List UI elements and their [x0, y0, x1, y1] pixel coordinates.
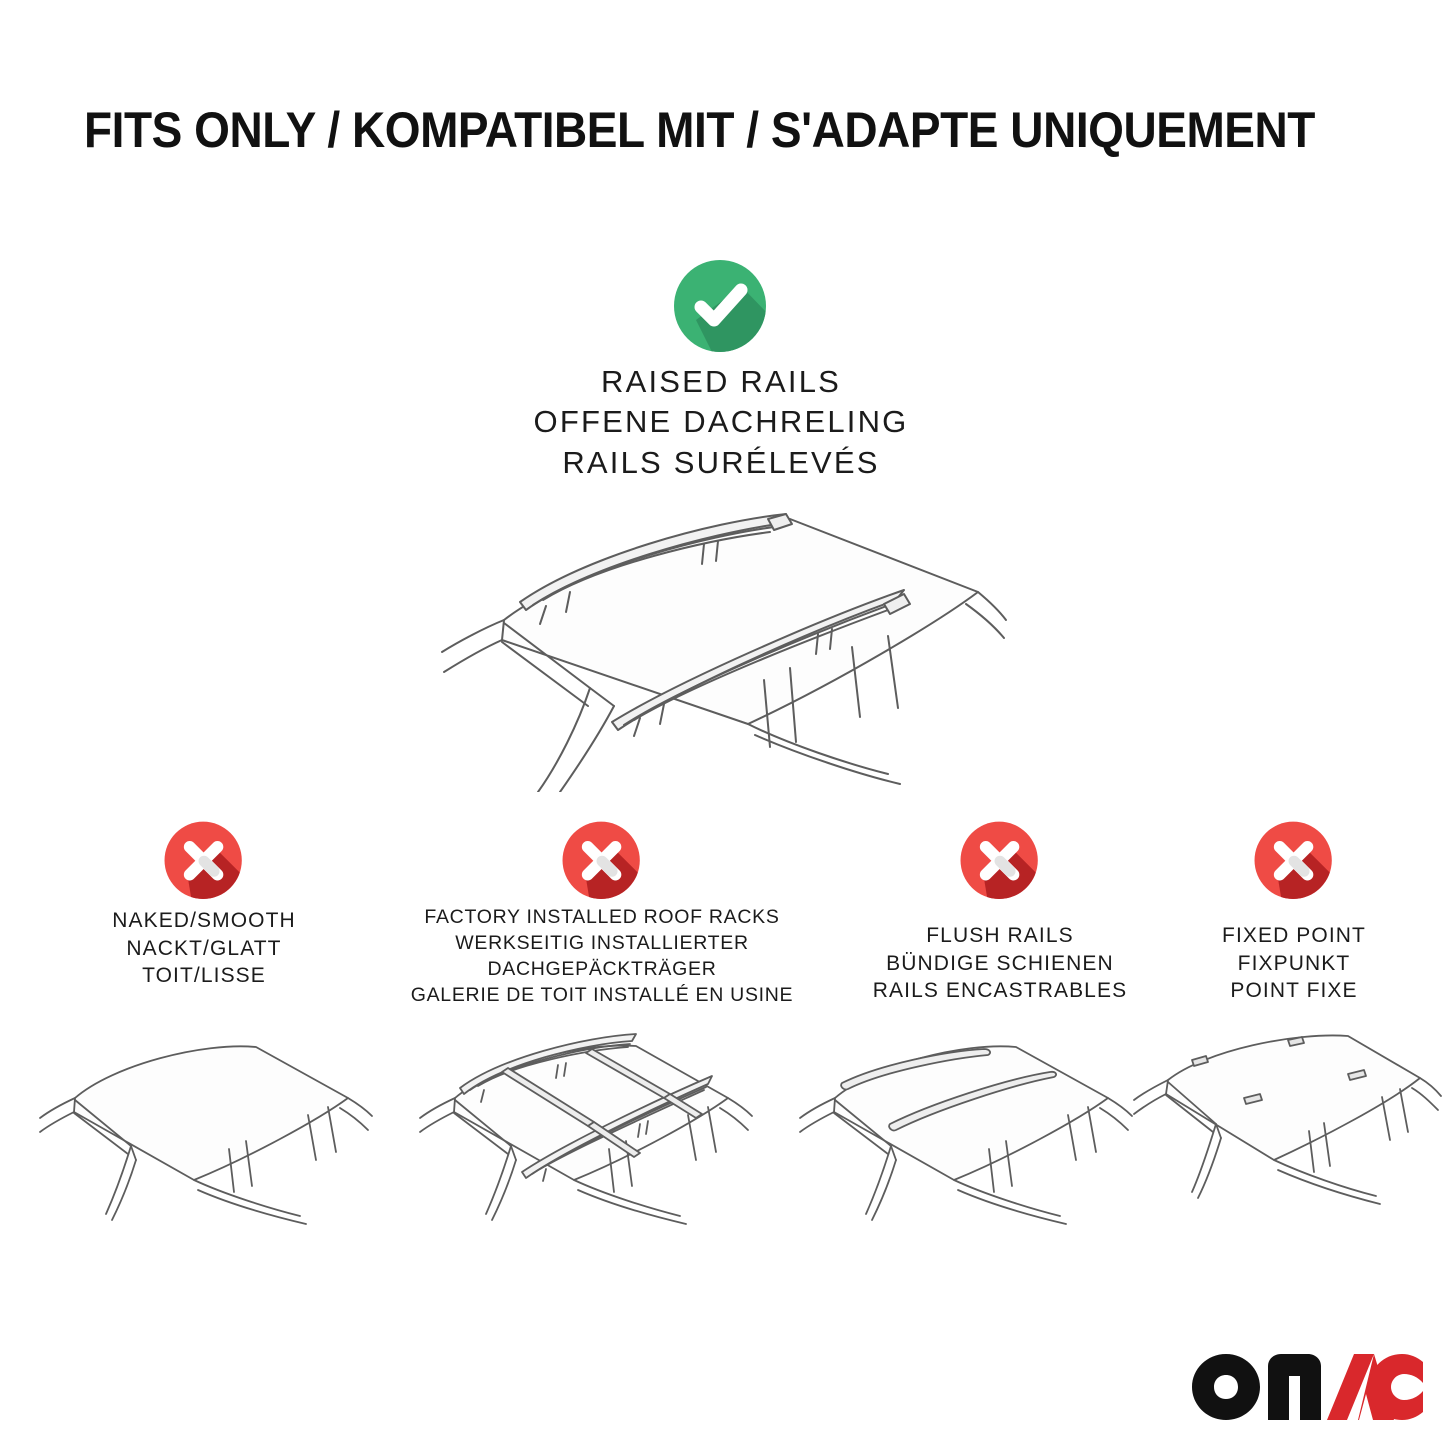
- label-line-3: RAILS ENCASTRABLES: [840, 977, 1160, 1005]
- car-roof-fixed-point-illustration: [1128, 1020, 1445, 1270]
- x-circle-icon-naked-smooth: [162, 820, 246, 904]
- label-line-1: NAKED/SMOOTH: [44, 907, 364, 935]
- label-line-2: NACKT/GLATT: [44, 935, 364, 963]
- compatible-label-line-3: RAILS SURÉLEVÉS: [421, 443, 1021, 483]
- compatible-label: RAISED RAILS OFFENE DACHRELING RAILS SUR…: [421, 362, 1021, 483]
- car-roof-raised-rails-illustration: [418, 492, 1008, 792]
- incompatible-label-flush-rails: FLUSH RAILS BÜNDIGE SCHIENEN RAILS ENCAS…: [840, 922, 1160, 1005]
- label-line-2: FIXPUNKT: [1134, 950, 1445, 978]
- label-line-4: GALERIE DE TOIT INSTALLÉ EN USINE: [362, 983, 842, 1009]
- x-circle-icon-flush-rails: [958, 820, 1042, 904]
- car-roof-factory-roof-racks-illustration: [398, 1010, 758, 1270]
- compatible-label-line-2: OFFENE DACHRELING: [421, 402, 1021, 442]
- x-circle-icon-factory-roof-racks: [560, 820, 644, 904]
- infographic-page: FITS ONLY / KOMPATIBEL MIT / S'ADAPTE UN…: [0, 0, 1445, 1445]
- incompatible-label-factory-roof-racks: FACTORY INSTALLED ROOF RACKS WERKSEITIG …: [362, 905, 842, 1009]
- incompatible-label-fixed-point: FIXED POINT FIXPUNKT POINT FIXE: [1134, 922, 1445, 1005]
- incompatible-label-naked-smooth: NAKED/SMOOTH NACKT/GLATT TOIT/LISSE: [44, 907, 364, 990]
- logo-letter-m: [1268, 1354, 1321, 1420]
- page-title: FITS ONLY / KOMPATIBEL MIT / S'ADAPTE UN…: [84, 104, 1271, 157]
- label-line-1: FLUSH RAILS: [840, 922, 1160, 950]
- label-line-1: FIXED POINT: [1134, 922, 1445, 950]
- x-circle-icon-fixed-point: [1252, 820, 1336, 904]
- label-line-3: DACHGEPÄCKTRÄGER: [362, 957, 842, 983]
- omac-logo: [1190, 1352, 1425, 1422]
- label-line-2: WERKSEITIG INSTALLIERTER: [362, 931, 842, 957]
- label-line-3: POINT FIXE: [1134, 977, 1445, 1005]
- check-circle-icon: [671, 258, 771, 358]
- label-line-3: TOIT/LISSE: [44, 962, 364, 990]
- label-line-1: FACTORY INSTALLED ROOF RACKS: [362, 905, 842, 931]
- label-line-2: BÜNDIGE SCHIENEN: [840, 950, 1160, 978]
- logo-letter-o: [1192, 1354, 1260, 1420]
- car-roof-naked-smooth-illustration: [18, 1020, 378, 1270]
- compatible-label-line-1: RAISED RAILS: [421, 362, 1021, 402]
- car-roof-flush-rails-illustration: [778, 1020, 1138, 1270]
